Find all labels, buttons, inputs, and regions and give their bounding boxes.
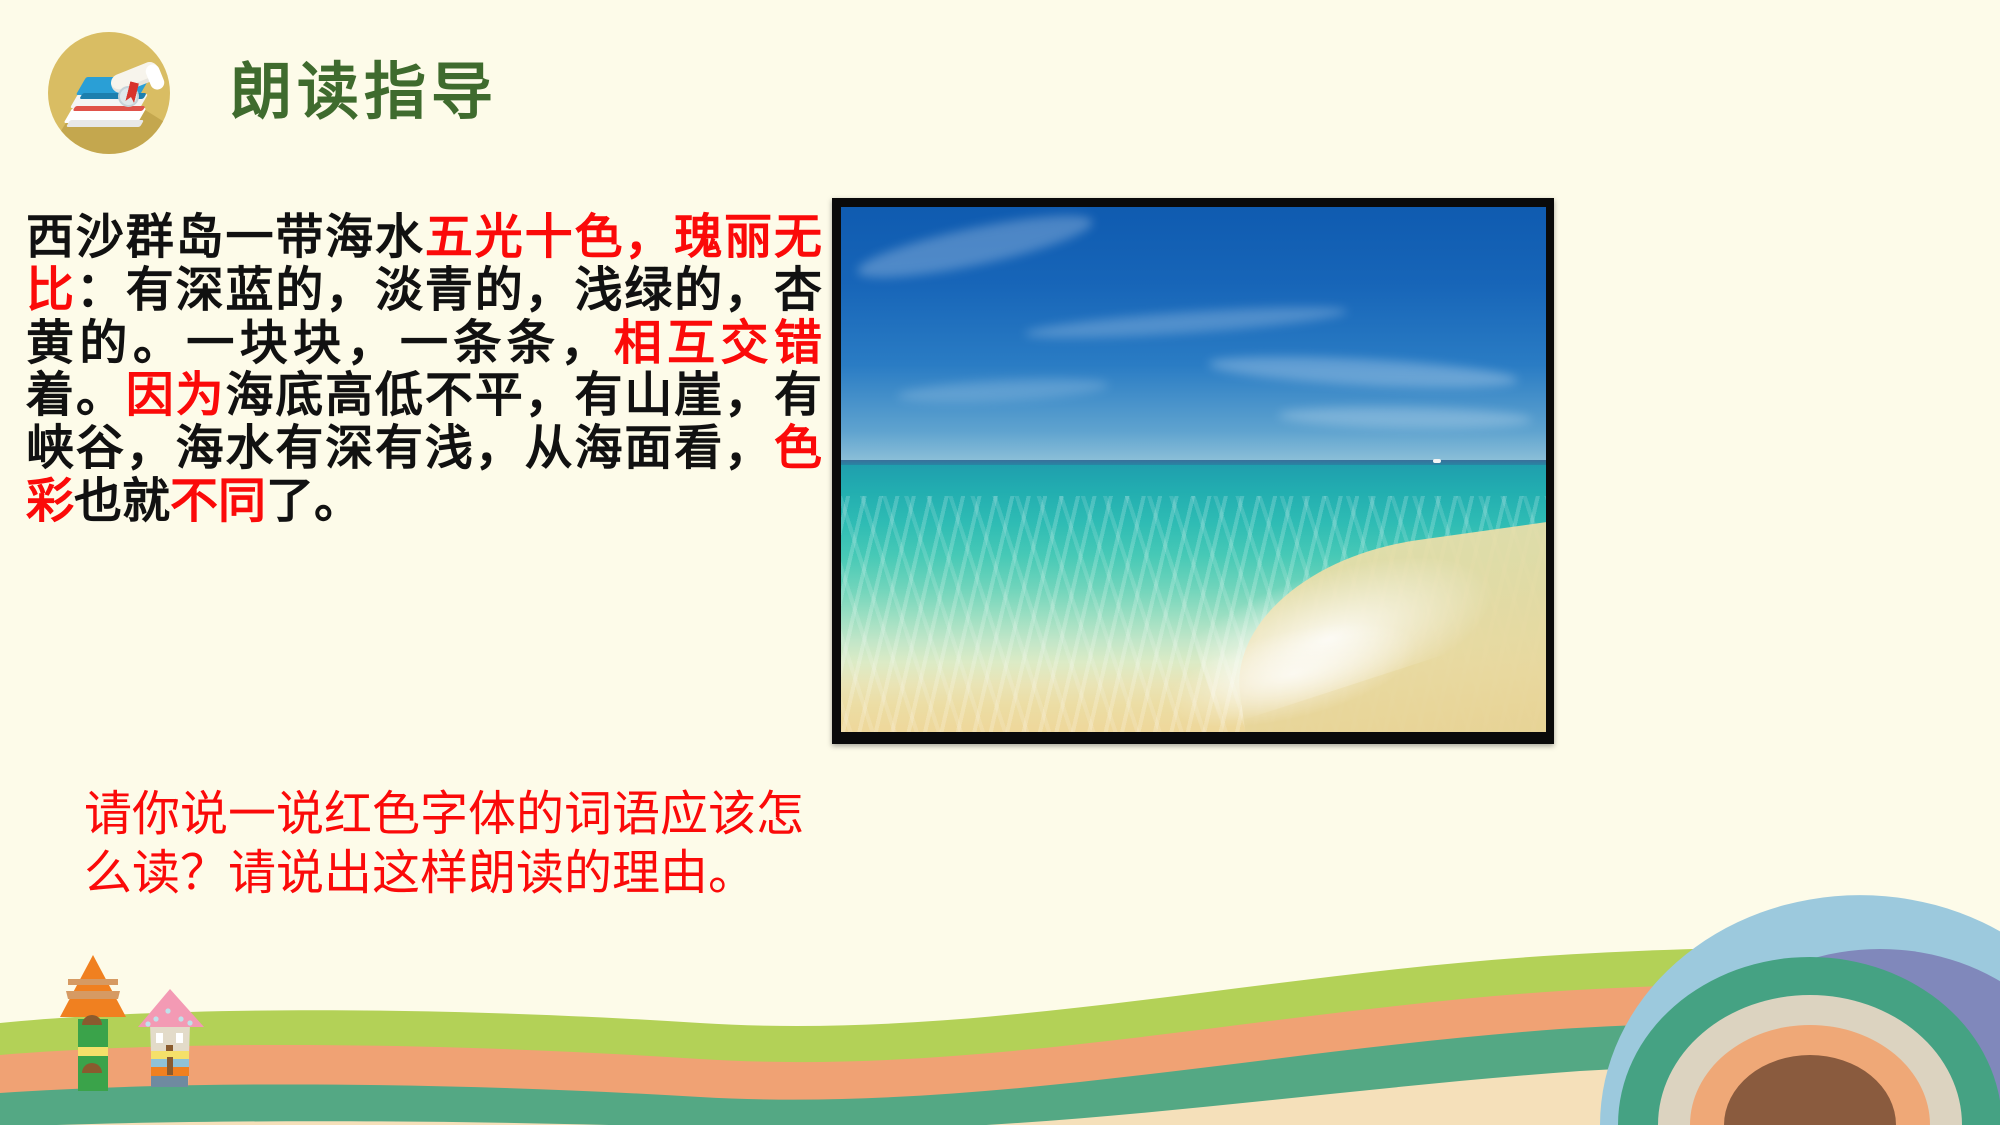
slide-canvas: 朗读指导 西沙群岛一带海水五光十色，瑰丽无比：有深蓝的，淡青的，浅绿的，杏黄的。…: [0, 0, 2000, 1125]
distant-boat-icon: [1433, 459, 1441, 463]
stacked-books-diploma-icon: [48, 32, 170, 154]
wave-band-green: [0, 947, 2000, 1125]
slide-header: 朗读指导: [48, 32, 498, 154]
passage-highlight: 相互交错: [614, 317, 822, 370]
reading-passage: 西沙群岛一带海水五光十色，瑰丽无比：有深蓝的，淡青的，浅绿的，杏黄的。一块块，一…: [26, 212, 822, 529]
footer-decoration: [0, 895, 2000, 1125]
page-title: 朗读指导: [230, 62, 498, 124]
passage-text: 着。: [26, 369, 126, 422]
photo-image: [841, 207, 1546, 732]
decorative-houses: [38, 947, 228, 1107]
discussion-question: 请你说一说红色字体的词语应该怎么读？请说出这样朗读的理由。: [84, 786, 810, 903]
beach-seascape-photo: [832, 198, 1554, 744]
passage-highlight: 不同: [170, 475, 266, 528]
wave-band-peach: [0, 983, 2000, 1125]
passage-highlight: ，: [624, 211, 674, 264]
passage-text: 了。: [266, 475, 362, 528]
rainbow-arcs: [1600, 895, 2000, 1125]
passage-text: 西沙群岛一带海水: [26, 211, 425, 264]
pink-roof-striped-house: [138, 989, 204, 1087]
passage-text: 也就: [74, 475, 170, 528]
passage-highlight: 因为: [126, 369, 226, 422]
orange-roof-green-house: [60, 955, 126, 1091]
footer-waves: [0, 895, 2000, 1125]
wave-band-teal: [0, 1021, 2000, 1125]
passage-highlight: 五光十色: [425, 211, 624, 264]
wave-band-cream: [0, 1063, 2000, 1125]
